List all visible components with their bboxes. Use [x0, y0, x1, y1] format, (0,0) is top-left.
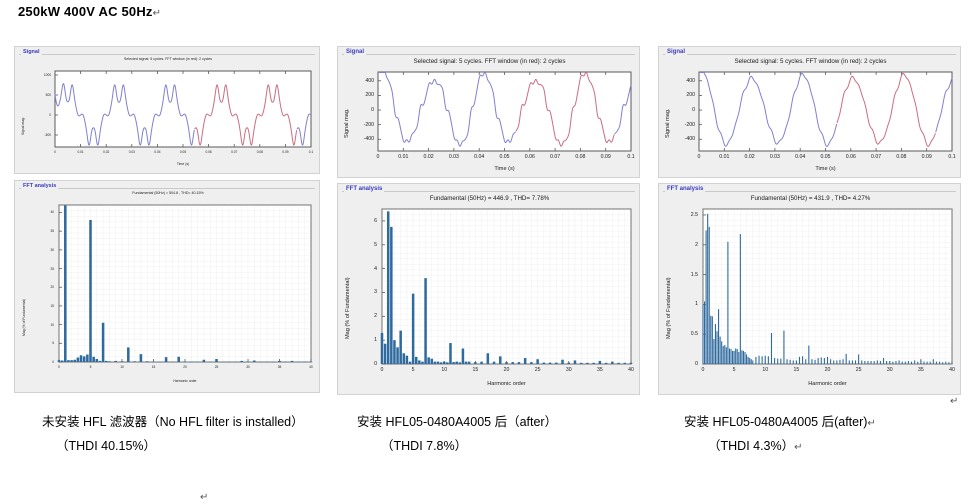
panel-column-hfl-4-3: Signal Selected signal: 5 cycles. FFT wi…: [658, 46, 961, 395]
signal-chart-1: Selected signal: 5 cycles. FFT window (i…: [338, 56, 641, 177]
fft-group-label: FFT analysis: [344, 186, 384, 192]
caption-line1: 未安装 HFL 滤波器（No HFL filter is installed）: [42, 411, 304, 435]
caption-2: 安装 HFL05-0480A4005 后(after)↵ （THDI 4.3%）…: [684, 411, 876, 459]
caption-1: 安装 HFL05-0480A4005 后（after） （THDI 7.8%）: [357, 411, 557, 459]
signal-chart-0: Selected signal: 5 cycles. FFT window (i…: [15, 55, 321, 173]
edit-mark-right: ↵: [950, 396, 958, 407]
signal-group-label: Signal: [21, 49, 42, 55]
group-rule: [663, 54, 956, 55]
fft-chart-0: Fundamental (50Hz) = 504.8 , THD= 40.15%…: [15, 189, 321, 392]
caption-line2: （THDI 7.8%）: [381, 435, 557, 459]
signal-panel-1: Signal Selected signal: 5 cycles. FFT wi…: [337, 46, 640, 178]
panel-column-no-filter: Signal Selected signal: 5 cycles. FFT wi…: [14, 46, 320, 393]
panels-container: Signal Selected signal: 5 cycles. FFT wi…: [0, 46, 974, 504]
caption-0: 未安装 HFL 滤波器（No HFL filter is installed） …: [42, 411, 304, 459]
fft-panel-0: FFT analysis Fundamental (50Hz) = 504.8 …: [14, 180, 320, 393]
group-rule: [342, 191, 635, 192]
fft-panel-2: FFT analysis Fundamental (50Hz) = 431.9 …: [658, 183, 961, 395]
caption-paragraph-mark-2: ↵: [794, 442, 802, 453]
signal-group-label: Signal: [665, 49, 687, 55]
group-rule: [19, 54, 315, 55]
signal-chart-2: Selected signal: 5 cycles. FFT window (i…: [659, 56, 962, 177]
fft-group-label: FFT analysis: [21, 183, 58, 189]
caption-line1: 安装 HFL05-0480A4005 后（after）: [357, 411, 557, 435]
signal-panel-2: Signal Selected signal: 5 cycles. FFT wi…: [658, 46, 961, 178]
edit-mark-bottom: ↵: [200, 492, 208, 503]
signal-panel-0: Signal Selected signal: 5 cycles. FFT wi…: [14, 46, 320, 174]
caption-line2: （THDI 4.3%）↵: [708, 435, 876, 459]
caption-line2: （THDI 40.15%）: [56, 435, 304, 459]
page-title: 250kW 400V AC 50Hz↵: [18, 4, 161, 19]
fft-chart-1: Fundamental (50Hz) = 446.9 , THD= 7.78%M…: [338, 193, 641, 394]
fft-group-label: FFT analysis: [665, 186, 705, 192]
group-rule: [342, 54, 635, 55]
caption-paragraph-mark: ↵: [867, 418, 875, 429]
paragraph-mark: ↵: [153, 8, 162, 19]
fft-panel-1: FFT analysis Fundamental (50Hz) = 446.9 …: [337, 183, 640, 395]
fft-chart-2: Fundamental (50Hz) = 431.9 , THD= 4.27%M…: [659, 193, 962, 394]
page-title-text: 250kW 400V AC 50Hz: [18, 4, 153, 19]
group-rule: [19, 188, 315, 189]
signal-group-label: Signal: [344, 49, 366, 55]
group-rule: [663, 191, 956, 192]
caption-line1: 安装 HFL05-0480A4005 后(after)↵: [684, 411, 876, 435]
panel-column-hfl-7-8: Signal Selected signal: 5 cycles. FFT wi…: [337, 46, 640, 395]
